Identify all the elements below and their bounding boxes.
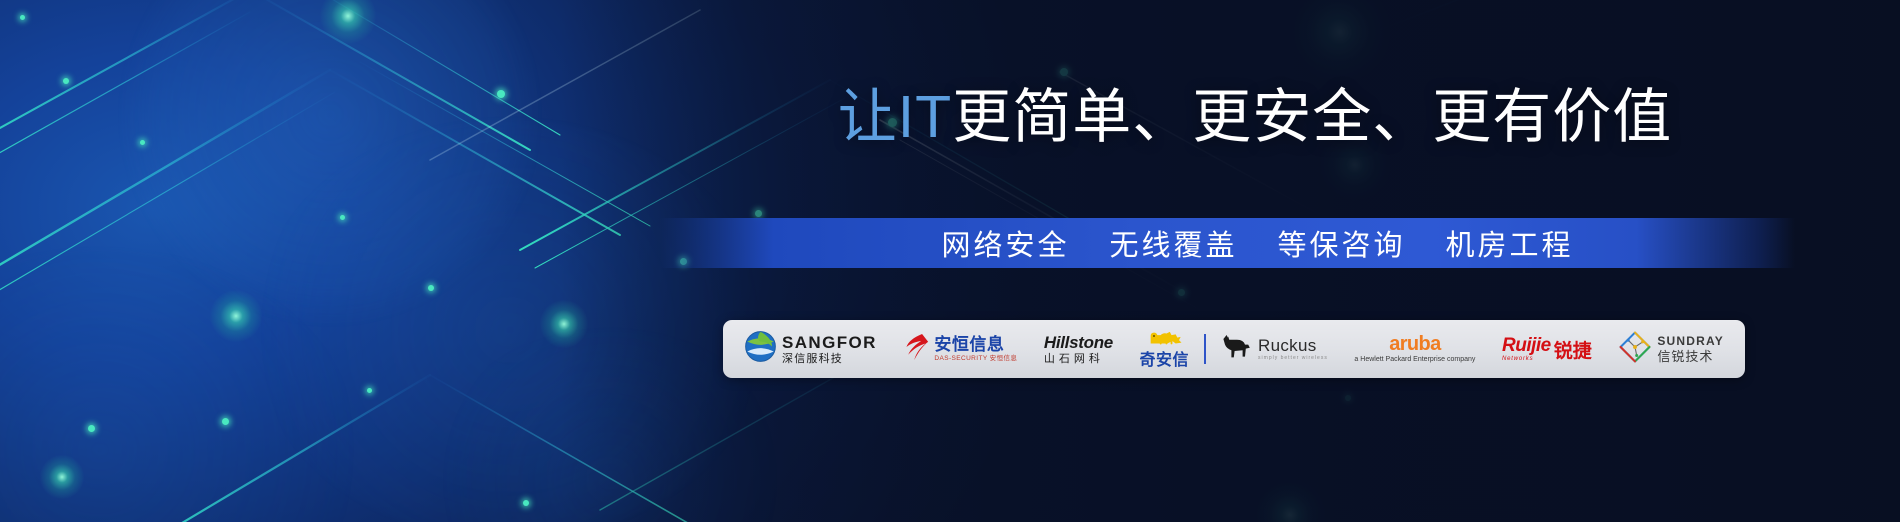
partner-name-cn: 信锐技术 [1657,350,1724,363]
partner-name-cn: 深信服科技 [782,354,877,365]
network-node-dot [523,500,529,506]
partner-logo-text: 奇安信 [1140,330,1190,369]
partner-logo-text: 安恒信息 DAS-SECURITY 安恒信息 [934,336,1017,363]
diamond-node-icon [1618,330,1652,369]
partner-name-cn: 安恒信息 [934,336,1017,353]
partner-logo-strip: SANGFOR 深信服科技 安恒信息 DAS-SECURITY 安恒信息 [723,320,1745,378]
service-item-wireless-coverage[interactable]: 无线覆盖 [1109,222,1237,264]
headline-accent: 让IT [838,84,952,150]
network-node-dot [340,215,345,220]
service-item-network-security[interactable]: 网络安全 [941,222,1069,264]
network-node-dot [497,90,505,98]
partner-name-en: Hillstone [1044,334,1113,351]
network-node-dot [88,425,95,432]
partner-tagline: a Hewlett Packard Enterprise company [1354,356,1475,365]
service-item-compliance-consulting[interactable]: 等保咨询 [1278,222,1406,264]
partner-tagline: Networks [1502,356,1551,362]
promo-banner: 让IT更简单、更安全、更有价值 网络安全 无线覆盖 等保咨询 机房工程 [0,0,1900,522]
network-node-dot [140,140,145,145]
partner-logo-sundray[interactable]: SUNDRAY 信锐技术 [1611,326,1731,372]
logo-divider [1204,334,1206,364]
partner-logo-text: Hillstone 山石网科 [1044,334,1113,365]
network-node-dot [367,388,372,393]
banner-headline: 让IT更简单、更安全、更有价值 [665,82,1845,152]
lion-icon [1144,330,1184,351]
partner-logo-sangfor[interactable]: SANGFOR 深信服科技 [737,326,884,372]
partner-logo-text: Ruckus simply better wireless [1258,337,1328,361]
network-node-glow [320,0,376,44]
network-node-dot [222,418,229,425]
headline-rest: 更简单、更安全、更有价值 [952,84,1672,150]
partner-logo-qianxin[interactable]: 奇安信 [1133,326,1197,372]
partner-logo-aruba[interactable]: aruba a Hewlett Packard Enterprise compa… [1347,326,1482,372]
partner-name-en: aruba [1389,334,1440,354]
service-item-data-center-engineering[interactable]: 机房工程 [1446,222,1574,264]
partner-logo-text: aruba a Hewlett Packard Enterprise compa… [1354,334,1475,365]
partner-name-en: DAS-SECURITY 安恒信息 [934,356,1017,363]
partner-name-cn: 奇安信 [1140,353,1190,369]
partner-name-en: SANGFOR [782,334,877,351]
background-glow-blob [0,250,360,522]
network-node-glow [210,290,262,342]
swoosh-icon [903,332,929,367]
partner-logo-das-security[interactable]: 安恒信息 DAS-SECURITY 安恒信息 [896,326,1024,372]
partner-logo-ruijie[interactable]: Ruijie Networks 锐捷 [1495,326,1599,372]
network-node-dot [20,15,25,20]
network-node-glow [540,300,588,348]
partner-tagline: simply better wireless [1258,356,1328,361]
partner-name-en: SUNDRAY [1657,335,1724,347]
service-bar: 网络安全 无线覆盖 等保咨询 机房工程 [660,218,1795,268]
partner-name-en: Ruckus [1258,337,1328,354]
network-node-glow [40,455,84,499]
background-glow-blob [120,0,540,325]
dog-icon [1221,334,1253,365]
partner-logo-hillstone[interactable]: Hillstone 山石网科 [1037,326,1120,372]
partner-logo-ruckus[interactable]: Ruckus simply better wireless [1214,326,1335,372]
partner-logo-text: SUNDRAY 信锐技术 [1657,335,1724,363]
partner-name-cn: 山石网科 [1044,354,1113,365]
banner-content: 让IT更简单、更安全、更有价值 网络安全 无线覆盖 等保咨询 机房工程 [665,0,1900,522]
service-bar-items: 网络安全 无线覆盖 等保咨询 机房工程 [660,218,1795,268]
network-node-dot [428,285,434,291]
globe-icon [744,330,777,368]
network-node-dot [63,78,69,84]
partner-logo-text: SANGFOR 深信服科技 [782,334,877,365]
partner-name-cn: 锐捷 [1554,336,1592,363]
partner-logo-text: Ruijie Networks [1502,336,1551,362]
partner-name-en: Ruijie [1502,336,1551,355]
